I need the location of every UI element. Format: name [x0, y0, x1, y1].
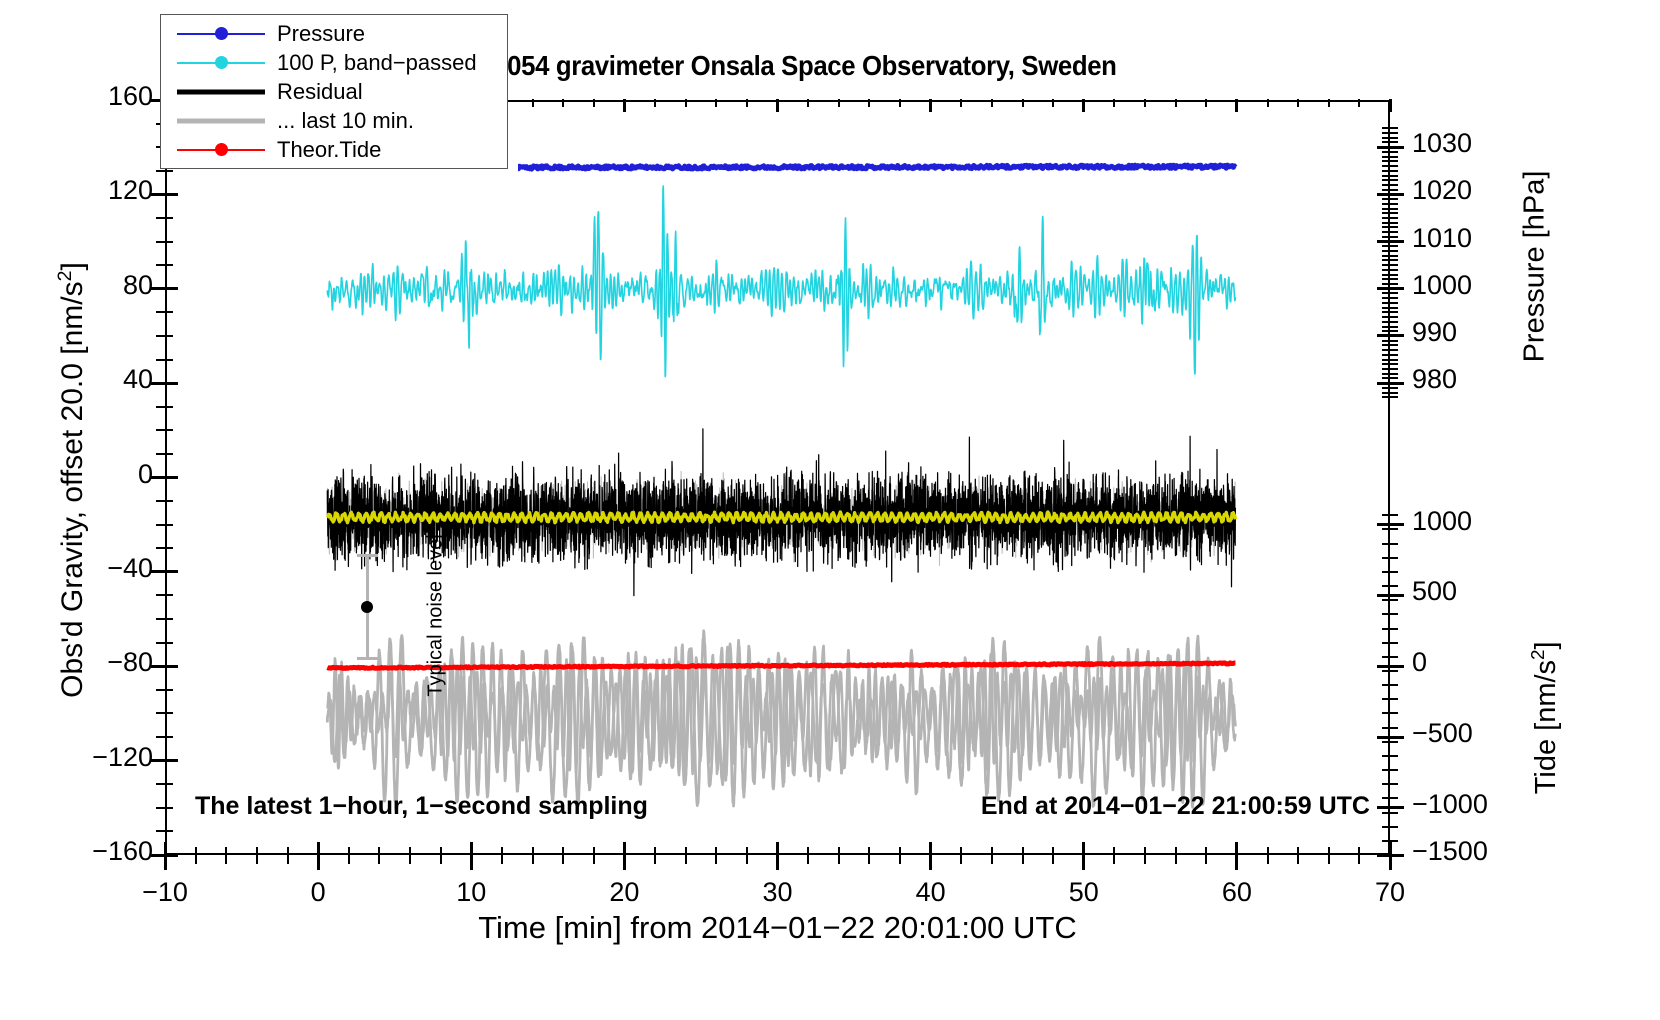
y-tick-pressure-minor [1390, 226, 1398, 228]
y-tick-left-inner [165, 382, 178, 385]
x-tick-minor-inner [991, 847, 993, 855]
y-tick-left-major [151, 665, 165, 668]
y-tick-pressure-minor-inner [1382, 179, 1390, 181]
y-tick-pressure-minor-inner [1382, 368, 1390, 370]
y-tick-tide-minor-inner [1382, 528, 1390, 530]
x-tick-minor-top [685, 99, 687, 107]
x-tick-minor-inner [501, 847, 503, 855]
y-tick-tide-minor-inner [1382, 571, 1390, 573]
y-tick-tide-minor-inner [1382, 698, 1390, 700]
y-tick-pressure-minor-inner [1382, 189, 1390, 191]
y-tick-left-minor [156, 406, 165, 408]
y-tick-pressure-minor [1390, 245, 1398, 247]
y-tick-pressure-minor-inner [1382, 231, 1390, 233]
y-tick-left-minor-inner [165, 335, 173, 337]
y-axis-pressure-title: Pressure [hPa] [1519, 77, 1552, 457]
x-tick-minor [256, 855, 258, 864]
y-tick-tide-minor [1390, 670, 1398, 672]
y-tick-tide-major [1390, 523, 1404, 526]
y-tick-pressure-minor-inner [1382, 330, 1390, 332]
y-tick-left-major [151, 193, 165, 196]
y-tick-label-tide: 1000 [1412, 506, 1520, 537]
y-tick-pressure-minor [1390, 179, 1398, 181]
y-tick-left-minor [156, 830, 165, 832]
legend-marker-dot-icon [215, 143, 228, 156]
x-tick-major-inner [1389, 842, 1392, 855]
y-tick-left-minor-inner [165, 217, 173, 219]
y-tick-tide-minor [1390, 543, 1398, 545]
y-tick-left-minor [156, 642, 165, 644]
x-tick-minor [991, 855, 993, 864]
y-tick-left-minor [156, 335, 165, 337]
y-tick-pressure-minor-inner [1382, 226, 1390, 228]
y-tick-left-minor-inner [165, 264, 173, 266]
y-tick-label-tide: 500 [1412, 576, 1520, 607]
y-tick-left-minor-inner [165, 429, 173, 431]
y-tick-pressure-minor [1390, 340, 1398, 342]
x-tick-top [929, 99, 932, 112]
y-axis-tide-title: Tide [nm/s2] [1527, 553, 1563, 883]
y-tick-pressure-minor [1390, 377, 1398, 379]
x-tick-major [1082, 855, 1085, 870]
x-tick-minor-inner [256, 847, 258, 855]
legend-swatch-icon [177, 23, 265, 45]
y-tick-tide-minor [1390, 684, 1398, 686]
y-tick-pressure-minor-inner [1382, 340, 1390, 342]
y-tick-label-left: 0 [35, 459, 153, 490]
y-tick-pressure-minor-inner [1382, 198, 1390, 200]
y-tick-label-tide: −500 [1412, 718, 1520, 749]
y-tick-pressure-minor [1390, 132, 1398, 134]
x-tick-minor-inner [225, 847, 227, 855]
y-tick-tide-minor-inner [1382, 741, 1390, 743]
y-tick-pressure-minor-inner [1382, 302, 1390, 304]
y-tick-pressure-minor-inner [1382, 363, 1390, 365]
y-tick-pressure-minor [1390, 189, 1398, 191]
x-tick-top [1389, 99, 1392, 112]
y-tick-tide-minor-inner [1382, 684, 1390, 686]
y-tick-left-minor-inner [165, 712, 173, 714]
legend-marker-dot-icon [215, 56, 228, 69]
y-tick-label-left: 120 [35, 175, 153, 206]
noise-level-label: Typical noise level [425, 526, 448, 706]
x-tick-minor-top [991, 99, 993, 107]
y-tick-pressure-minor-inner [1382, 278, 1390, 280]
y-tick-left-minor [156, 712, 165, 714]
y-tick-left-minor [156, 783, 165, 785]
y-tick-pressure-minor-inner [1382, 184, 1390, 186]
y-tick-left-inner [165, 665, 178, 668]
x-tick-label: 40 [861, 877, 1001, 908]
x-tick-minor-inner [715, 847, 717, 855]
x-tick-minor [378, 855, 380, 864]
y-tick-left-minor-inner [165, 642, 173, 644]
y-tick-left-inner [165, 287, 178, 290]
y-tick-label-left: 40 [35, 364, 153, 395]
y-tick-left-minor-inner [165, 500, 173, 502]
y-tick-left-minor-inner [165, 830, 173, 832]
y-tick-pressure-minor [1390, 344, 1398, 346]
y-tick-label-pressure: 980 [1412, 364, 1508, 395]
y-tick-pressure-minor-inner [1382, 245, 1390, 247]
y-tick-pressure-inner [1377, 287, 1390, 290]
y-tick-pressure-minor [1390, 292, 1398, 294]
y-tick-pressure-major [1390, 334, 1404, 337]
x-tick-major-inner [1082, 842, 1085, 855]
y-tick-left-minor-inner [165, 736, 173, 738]
x-tick-major [470, 855, 473, 870]
y-tick-tide-minor-inner [1382, 755, 1390, 757]
y-tick-pressure-minor [1390, 278, 1398, 280]
y-tick-tide-minor [1390, 812, 1398, 814]
x-tick-minor-inner [562, 847, 564, 855]
y-tick-pressure-minor-inner [1382, 217, 1390, 219]
y-tick-pressure-minor [1390, 349, 1398, 351]
x-tick-minor-inner [287, 847, 289, 855]
x-tick-minor [746, 855, 748, 864]
legend-label: Theor.Tide [277, 137, 381, 163]
y-tick-left-minor [156, 264, 165, 266]
y-tick-tide-minor-inner [1382, 543, 1390, 545]
y-tick-pressure-minor-inner [1382, 344, 1390, 346]
y-tick-pressure-minor-inner [1382, 137, 1390, 139]
y-tick-pressure-minor [1390, 222, 1398, 224]
legend-label: Pressure [277, 21, 365, 47]
x-tick-minor-inner [593, 847, 595, 855]
y-tick-tide-minor-inner [1382, 628, 1390, 630]
y-tick-tide-minor-inner [1382, 812, 1390, 814]
y-tick-tide-minor [1390, 628, 1398, 630]
x-tick-major [1389, 855, 1392, 870]
x-tick-major [1235, 855, 1238, 870]
y-tick-pressure-minor [1390, 264, 1398, 266]
y-tick-pressure-minor-inner [1382, 269, 1390, 271]
legend-item-2[interactable]: Residual [161, 77, 507, 106]
legend-marker-dot-icon [215, 27, 228, 40]
x-tick-label: 0 [248, 877, 388, 908]
typical-noise-level-marker: Typical noise level [352, 532, 442, 702]
x-tick-minor [1205, 855, 1207, 864]
x-tick-minor-top [1175, 99, 1177, 107]
y-tick-tide-minor [1390, 528, 1398, 530]
x-tick-minor [1267, 855, 1269, 864]
y-tick-pressure-minor [1390, 321, 1398, 323]
y-tick-pressure-minor [1390, 137, 1398, 139]
y-tick-pressure-minor [1390, 250, 1398, 252]
x-tick-label: 20 [554, 877, 694, 908]
y-tick-left-major [151, 759, 165, 762]
noise-center-dot [361, 601, 373, 613]
y-tick-pressure-minor-inner [1382, 349, 1390, 351]
y-tick-left-minor [156, 736, 165, 738]
y-tick-left-major [151, 382, 165, 385]
x-tick-minor-top [654, 99, 656, 107]
y-tick-pressure-minor [1390, 316, 1398, 318]
x-tick-minor [1328, 855, 1330, 864]
y-tick-pressure-minor [1390, 184, 1398, 186]
y-tick-pressure-minor [1390, 387, 1398, 389]
x-tick-minor-top [807, 99, 809, 107]
x-tick-label: 60 [1167, 877, 1307, 908]
x-tick-major [929, 855, 932, 870]
y-tick-left-minor-inner [165, 170, 173, 172]
y-tick-tide-minor-inner [1382, 599, 1390, 601]
x-tick-minor-top [868, 99, 870, 107]
x-tick-minor-top [532, 99, 534, 107]
y-tick-left-inner [165, 476, 178, 479]
x-tick-minor-top [1328, 99, 1330, 107]
y-tick-pressure-minor-inner [1382, 151, 1390, 153]
y-tick-pressure-minor [1390, 302, 1398, 304]
legend-item-0[interactable]: Pressure [161, 19, 507, 48]
y-tick-pressure-minor-inner [1382, 396, 1390, 398]
y-tick-tide-inner [1377, 806, 1390, 809]
x-tick-major [623, 855, 626, 870]
legend-line-icon [177, 118, 265, 123]
y-tick-tide-minor-inner [1382, 797, 1390, 799]
x-tick-minor-top [1358, 99, 1360, 107]
y-tick-pressure-minor [1390, 274, 1398, 276]
y-tick-left-minor [156, 453, 165, 455]
y-tick-left-major [151, 287, 165, 290]
x-tick-minor-inner [1113, 847, 1115, 855]
x-tick-minor-inner [1052, 847, 1054, 855]
y-tick-pressure-minor-inner [1382, 141, 1390, 143]
y-tick-tide-minor-inner [1382, 642, 1390, 644]
y-tick-pressure-minor [1390, 231, 1398, 233]
y-tick-pressure-major [1390, 240, 1404, 243]
x-tick-minor-top [1052, 99, 1054, 107]
y-tick-tide-major [1390, 594, 1404, 597]
x-tick-minor-top [715, 99, 717, 107]
y-tick-pressure-minor [1390, 392, 1398, 394]
y-tick-left-minor [156, 618, 165, 620]
y-tick-pressure-minor [1390, 151, 1398, 153]
y-tick-label-pressure: 1010 [1412, 223, 1508, 254]
x-tick-major-inner [1235, 842, 1238, 855]
y-tick-pressure-major [1390, 193, 1404, 196]
x-tick-minor-inner [899, 847, 901, 855]
y-tick-left-inner [165, 759, 178, 762]
y-tick-tide-minor-inner [1382, 514, 1390, 516]
x-tick-minor-inner [960, 847, 962, 855]
legend-swatch-icon [177, 110, 265, 132]
y-tick-pressure-inner [1377, 146, 1390, 149]
y-tick-left-minor [156, 689, 165, 691]
y-tick-pressure-minor [1390, 236, 1398, 238]
x-tick-minor-inner [1022, 847, 1024, 855]
x-tick-minor-top [1205, 99, 1207, 107]
y-tick-pressure-major [1390, 146, 1404, 149]
y-tick-pressure-minor [1390, 297, 1398, 299]
y-tick-tide-minor [1390, 642, 1398, 644]
x-tick-minor-top [1297, 99, 1299, 107]
x-tick-minor [1297, 855, 1299, 864]
x-tick-minor-top [1022, 99, 1024, 107]
y-tick-label-pressure: 1020 [1412, 175, 1508, 206]
y-tick-pressure-minor-inner [1382, 255, 1390, 257]
x-tick-minor-top [1113, 99, 1115, 107]
legend-swatch-icon [177, 139, 265, 161]
legend-label: 100 P, band−passed [277, 50, 477, 76]
y-tick-pressure-major [1390, 382, 1404, 385]
x-tick-minor-inner [1205, 847, 1207, 855]
y-tick-pressure-minor [1390, 141, 1398, 143]
y-tick-left-minor-inner [165, 547, 173, 549]
x-tick-label: 30 [708, 877, 848, 908]
x-tick-minor-inner [409, 847, 411, 855]
y-tick-pressure-minor [1390, 311, 1398, 313]
x-tick-minor-inner [378, 847, 380, 855]
x-tick-minor-inner [746, 847, 748, 855]
y-tick-label-pressure: 1030 [1412, 128, 1508, 159]
y-tick-left-minor [156, 359, 165, 361]
y-tick-tide-major [1390, 806, 1404, 809]
y-tick-tide-inner [1377, 665, 1390, 668]
data-traces [167, 102, 1388, 853]
y-tick-left-minor-inner [165, 241, 173, 243]
y-tick-pressure-minor-inner [1382, 326, 1390, 328]
bandpassed-pressure-trace [327, 186, 1235, 377]
y-tick-tide-minor [1390, 557, 1398, 559]
y-tick-pressure-minor-inner [1382, 259, 1390, 261]
y-tick-pressure-minor [1390, 208, 1398, 210]
x-tick-minor [899, 855, 901, 864]
y-tick-pressure-minor [1390, 359, 1398, 361]
y-tick-left-minor [156, 547, 165, 549]
y-tick-tide-minor [1390, 797, 1398, 799]
y-tick-left-minor [156, 807, 165, 809]
y-tick-tide-inner [1377, 523, 1390, 526]
y-tick-label-left: 80 [35, 270, 153, 301]
y-tick-tide-minor [1390, 571, 1398, 573]
legend-label: ... last 10 min. [277, 108, 414, 134]
x-tick-minor-top [1267, 99, 1269, 107]
gravimeter-plot-figure: SCG_054 gravimeter Onsala Space Observat… [0, 0, 1660, 1020]
y-tick-pressure-minor-inner [1382, 132, 1390, 134]
y-tick-pressure-minor [1390, 170, 1398, 172]
y-tick-pressure-minor [1390, 217, 1398, 219]
y-tick-pressure-inner [1377, 193, 1390, 196]
y-tick-tide-minor-inner [1382, 670, 1390, 672]
y-tick-pressure-minor-inner [1382, 387, 1390, 389]
y-tick-left-minor-inner [165, 689, 173, 691]
y-tick-tide-minor-inner [1382, 557, 1390, 559]
x-tick-minor [685, 855, 687, 864]
x-tick-minor-inner [1175, 847, 1177, 855]
y-tick-pressure-minor-inner [1382, 297, 1390, 299]
y-tick-pressure-minor-inner [1382, 250, 1390, 252]
y-tick-pressure-minor [1390, 259, 1398, 261]
x-tick-top [623, 99, 626, 112]
y-tick-left-minor [156, 429, 165, 431]
y-tick-label-left: 160 [35, 81, 153, 112]
y-tick-tide-inner [1377, 736, 1390, 739]
y-tick-pressure-minor-inner [1382, 203, 1390, 205]
x-tick-minor-inner [838, 847, 840, 855]
y-tick-label-tide: 0 [1412, 647, 1520, 678]
x-tick-minor [348, 855, 350, 864]
y-tick-label-left: −80 [35, 647, 153, 678]
y-tick-left-minor-inner [165, 406, 173, 408]
y-tick-pressure-minor-inner [1382, 170, 1390, 172]
x-tick-minor-inner [440, 847, 442, 855]
y-tick-tide-minor [1390, 755, 1398, 757]
x-tick-minor-inner [1358, 847, 1360, 855]
y-tick-tide-minor [1390, 712, 1398, 714]
x-tick-minor [807, 855, 809, 864]
x-tick-minor-top [593, 99, 595, 107]
x-tick-minor-inner [532, 847, 534, 855]
x-tick-label: 50 [1014, 877, 1154, 908]
x-tick-major [164, 855, 167, 870]
x-tick-minor [195, 855, 197, 864]
x-tick-minor [1052, 855, 1054, 864]
y-tick-left-inner [165, 854, 178, 857]
y-tick-pressure-inner [1377, 334, 1390, 337]
y-tick-pressure-minor-inner [1382, 156, 1390, 158]
y-tick-label-left: −40 [35, 553, 153, 584]
y-tick-pressure-minor [1390, 363, 1398, 365]
y-tick-pressure-minor [1390, 396, 1398, 398]
x-tick-minor [960, 855, 962, 864]
x-tick-minor-inner [195, 847, 197, 855]
y-tick-tide-minor-inner [1382, 826, 1390, 828]
y-tick-pressure-minor [1390, 368, 1398, 370]
legend-swatch-icon [177, 52, 265, 74]
x-tick-minor [501, 855, 503, 864]
x-tick-minor-inner [1328, 847, 1330, 855]
y-tick-pressure-minor-inner [1382, 127, 1390, 129]
y-tick-pressure-minor-inner [1382, 208, 1390, 210]
y-tick-tide-minor [1390, 727, 1398, 729]
x-tick-label: −10 [95, 877, 235, 908]
x-tick-minor-inner [1144, 847, 1146, 855]
y-tick-left-minor-inner [165, 453, 173, 455]
y-tick-pressure-minor-inner [1382, 264, 1390, 266]
x-tick-minor-inner [1267, 847, 1269, 855]
y-tick-left-minor-inner [165, 618, 173, 620]
legend-item-4[interactable]: Theor.Tide [161, 135, 507, 164]
y-tick-pressure-inner [1377, 382, 1390, 385]
y-tick-tide-minor [1390, 769, 1398, 771]
y-tick-tide-minor [1390, 514, 1398, 516]
y-tick-label-tide: −1000 [1412, 789, 1520, 820]
legend-item-3[interactable]: ... last 10 min. [161, 106, 507, 135]
x-tick-minor [654, 855, 656, 864]
x-tick-major [776, 855, 779, 870]
y-tick-pressure-minor [1390, 255, 1398, 257]
y-tick-left-minor-inner [165, 311, 173, 313]
x-tick-top [776, 99, 779, 112]
y-tick-left-minor [156, 241, 165, 243]
y-tick-tide-minor [1390, 826, 1398, 828]
y-tick-pressure-minor-inner [1382, 359, 1390, 361]
y-tick-pressure-minor [1390, 127, 1398, 129]
y-tick-pressure-minor [1390, 156, 1398, 158]
y-tick-tide-minor [1390, 783, 1398, 785]
x-tick-minor [440, 855, 442, 864]
legend-item-1[interactable]: 100 P, band−passed [161, 48, 507, 77]
x-tick-minor-top [1144, 99, 1146, 107]
y-tick-tide-major [1390, 736, 1404, 739]
y-tick-pressure-minor-inner [1382, 377, 1390, 379]
y-tick-pressure-minor [1390, 269, 1398, 271]
y-tick-left-major [151, 570, 165, 573]
y-tick-tide-minor [1390, 656, 1398, 658]
plot-area: Typical noise level The latest 1−hour, 1… [165, 100, 1390, 855]
y-tick-pressure-minor-inner [1382, 175, 1390, 177]
